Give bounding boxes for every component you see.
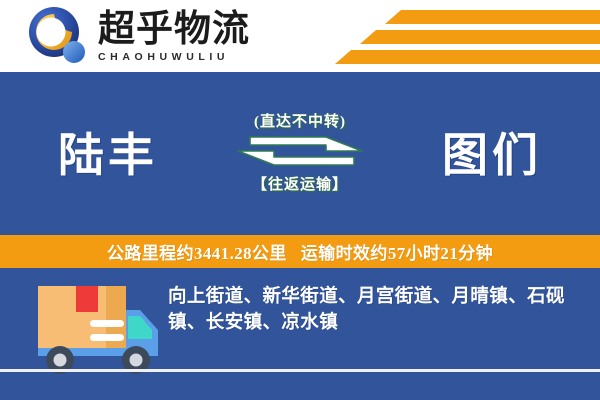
destination-city: 图们 <box>442 119 542 185</box>
duration-text: 运输时效约57小时21分钟 <box>301 239 493 264</box>
circle-crescent-logo-icon <box>28 6 90 66</box>
route-middle: (直达不中转) 【往返运输】 <box>195 110 405 194</box>
distance-text: 公路里程约3441.28公里 <box>107 239 287 264</box>
delivery-truck-icon <box>28 280 173 378</box>
coverage-panel: 向上街道、新华街道、月宫街道、月晴镇、石砚镇、长安镇、凉水镇 <box>0 272 600 400</box>
logistics-route-banner: 超乎物流 CHAOHUWULIU 陆丰 (直达不中转) 【往返运输】 <box>0 0 600 400</box>
brand-logo-block: 超乎物流 CHAOHUWULIU <box>28 6 250 66</box>
info-bar-wrapper: 公路里程约3441.28公里 运输时效约57小时21分钟 <box>0 232 600 272</box>
round-trip-note: 【往返运输】 <box>252 173 348 194</box>
stripe-1 <box>385 10 600 24</box>
brand-name-en: CHAOHUWULIU <box>98 51 250 63</box>
origin-city: 陆丰 <box>58 119 158 185</box>
route-info-bar: 公路里程约3441.28公里 运输时效约57小时21分钟 <box>0 235 600 268</box>
stripe-2 <box>360 30 600 44</box>
brand-text: 超乎物流 CHAOHUWULIU <box>98 9 250 64</box>
stripe-3 <box>335 50 600 64</box>
brand-name-cn: 超乎物流 <box>98 11 250 49</box>
decorative-orange-stripes <box>310 6 600 68</box>
coverage-areas-text: 向上街道、新华街道、月宫街道、月晴镇、石砚镇、长安镇、凉水镇 <box>168 284 580 337</box>
banner-header: 超乎物流 CHAOHUWULIU <box>0 0 600 72</box>
direct-route-note: (直达不中转) <box>254 110 346 131</box>
double-arrow-icon <box>230 134 370 168</box>
bottom-divider <box>0 369 600 372</box>
route-panel: 陆丰 (直达不中转) 【往返运输】 图们 <box>0 72 600 232</box>
